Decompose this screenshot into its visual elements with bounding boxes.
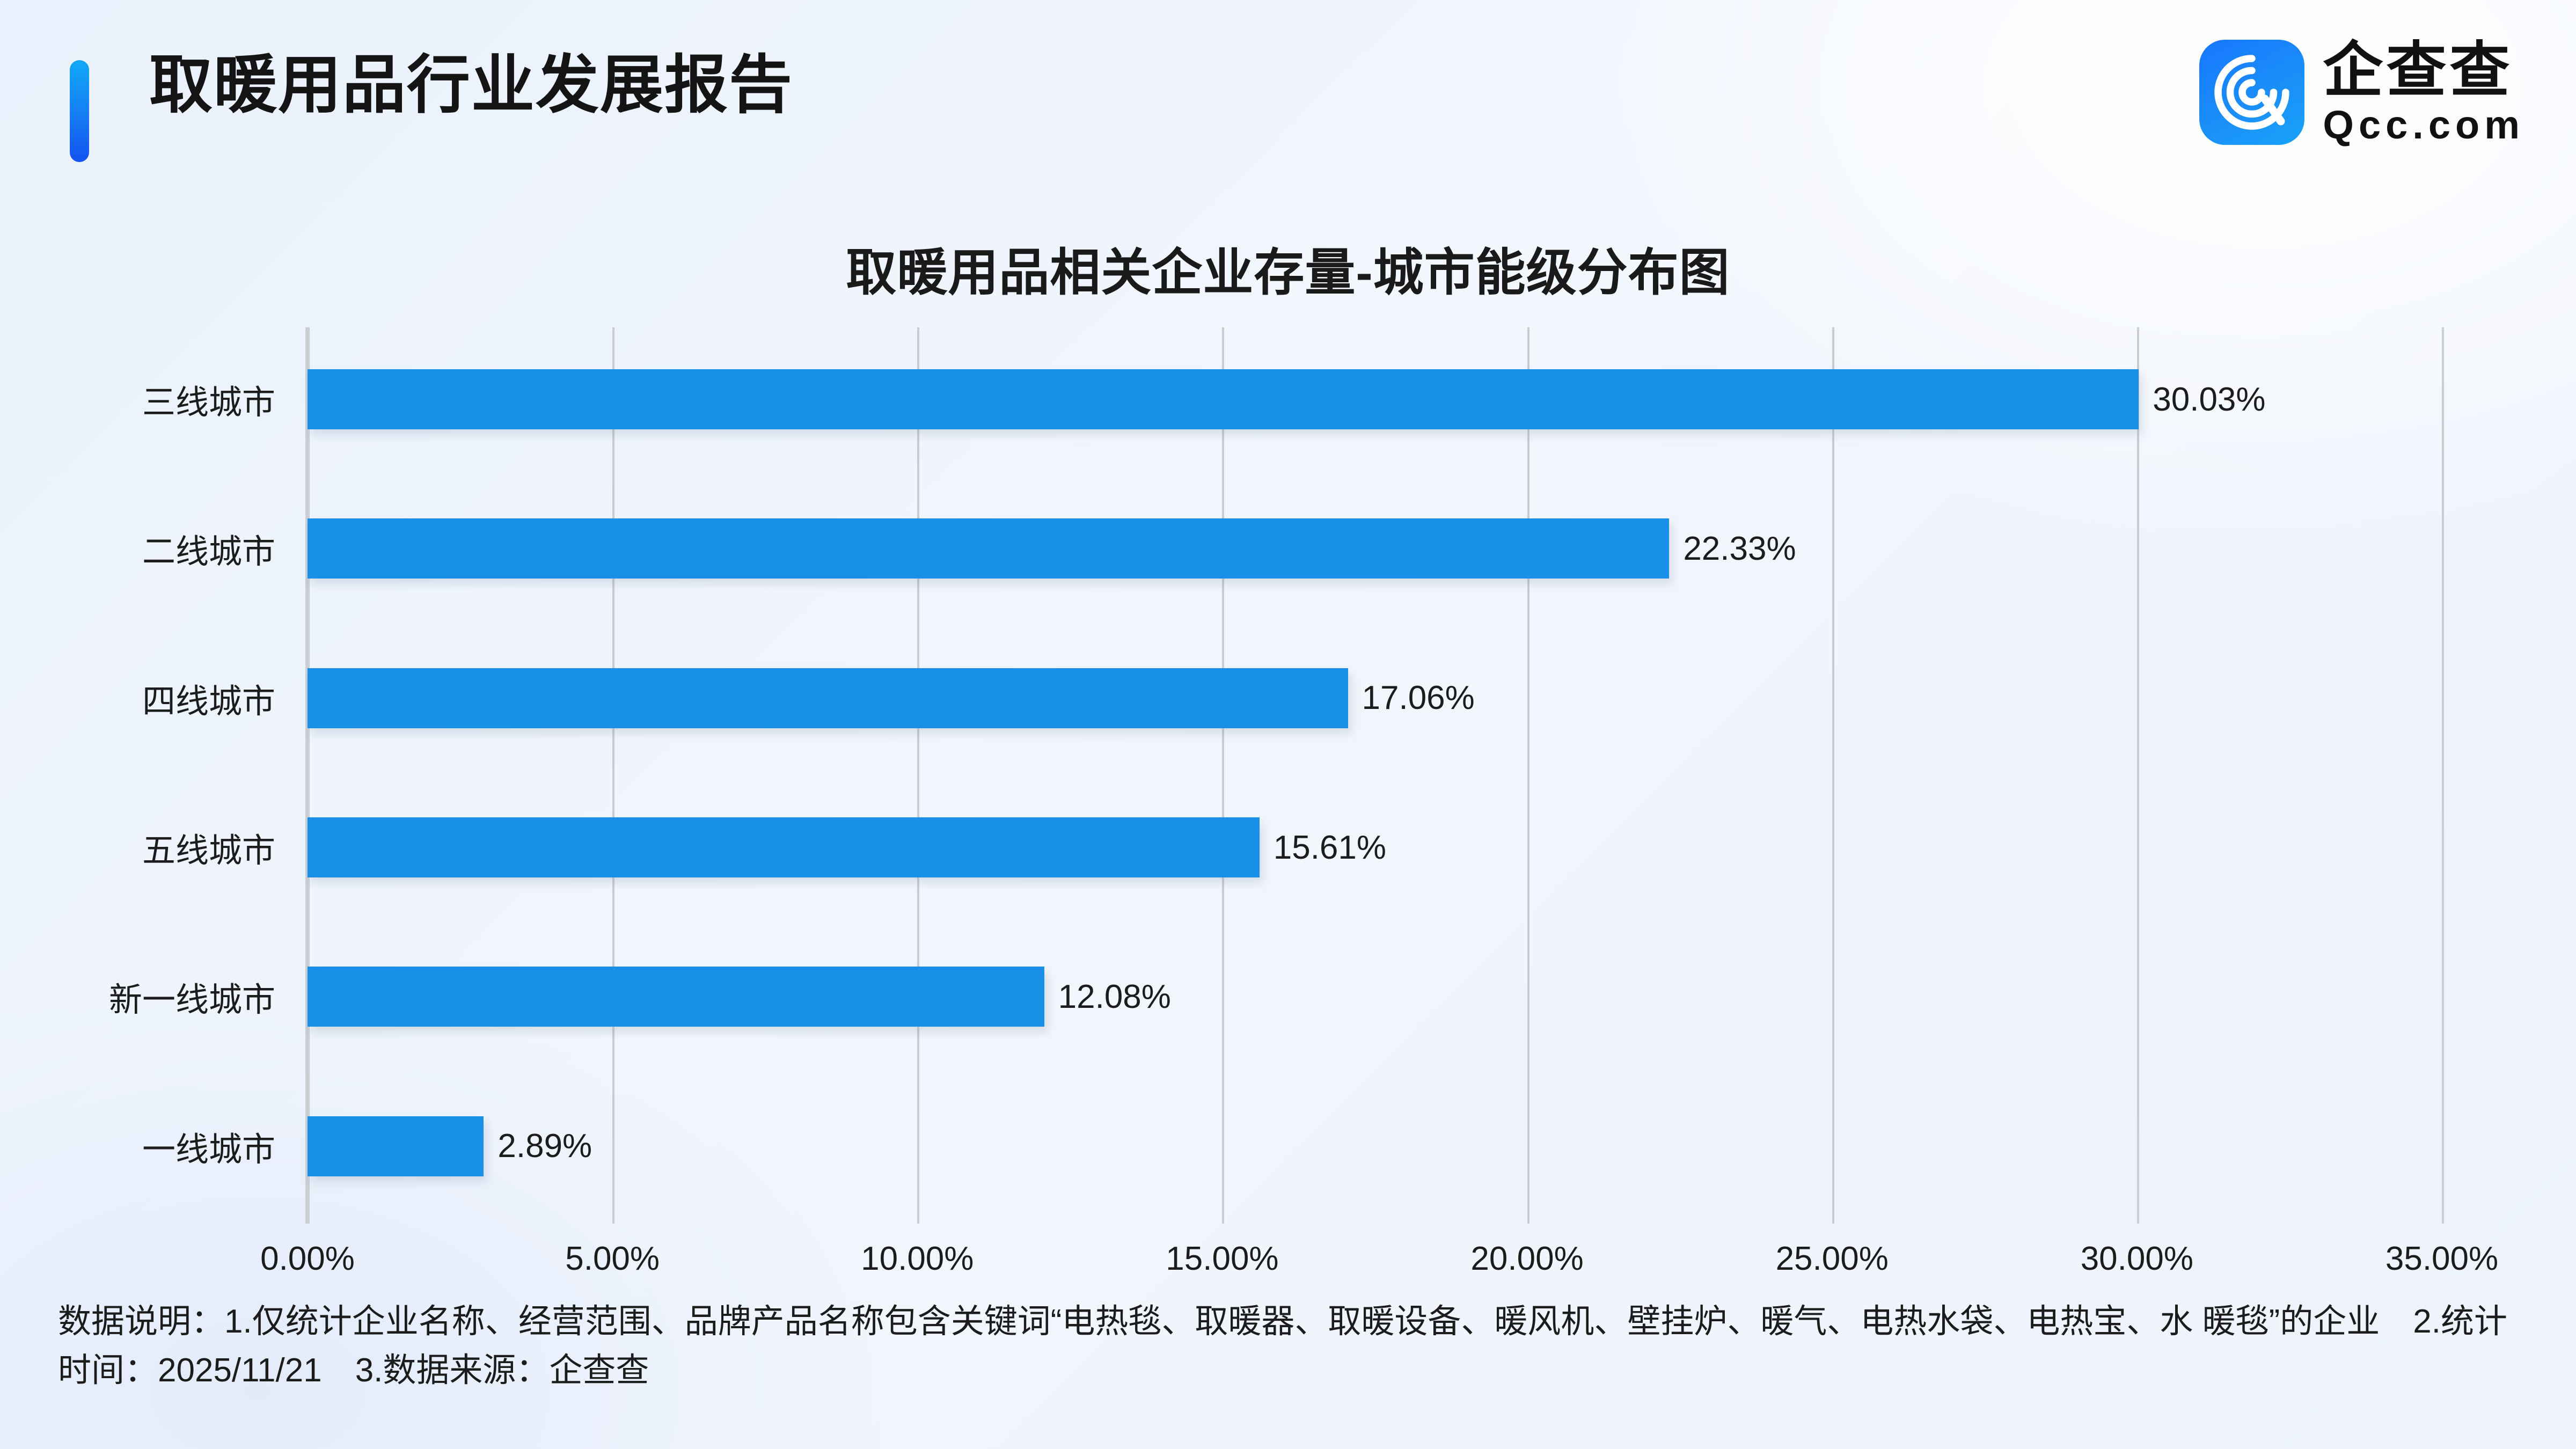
x-axis-tick-label: 0.00%	[260, 1240, 355, 1278]
page-title: 取暖用品行业发展报告	[149, 54, 793, 117]
bar-value-label: 22.33%	[1669, 518, 1796, 579]
qcc-logo: 企查查 Qcc.com	[2199, 39, 2524, 145]
x-axis-tick-label: 30.00%	[2081, 1240, 2193, 1278]
page-header: 取暖用品行业发展报告 企查查 Qcc.com	[0, 0, 2576, 215]
bar-row: 新一线城市12.08%	[308, 925, 2442, 1074]
logo-cn-name: 企查查	[2323, 39, 2524, 102]
bar[interactable]	[308, 369, 2139, 429]
x-axis-tick-label: 35.00%	[2385, 1240, 2498, 1278]
data-note-line-1: 数据说明：1.仅统计企业名称、经营范围、品牌产品名称包含关键词“电热毯、取暖器、…	[58, 1303, 2193, 1340]
bar-value-label: 30.03%	[2139, 369, 2265, 429]
category-label: 二线城市	[0, 518, 275, 579]
logo-domain: Qcc.com	[2323, 104, 2524, 146]
logo-wordmark: 企查查 Qcc.com	[2323, 39, 2524, 145]
x-axis-tick-label: 25.00%	[1776, 1240, 1889, 1278]
bar[interactable]	[308, 518, 1669, 579]
bar-row: 二线城市22.33%	[308, 477, 2442, 626]
gridline	[2442, 327, 2444, 1224]
x-axis-tick-label: 15.00%	[1166, 1240, 1278, 1278]
bar[interactable]	[308, 1116, 484, 1176]
bar-row: 五线城市15.61%	[308, 775, 2442, 925]
bar-value-label: 17.06%	[1348, 668, 1475, 728]
bar[interactable]	[308, 967, 1044, 1027]
x-axis-tick-label: 5.00%	[565, 1240, 660, 1278]
bar-value-label: 2.89%	[484, 1116, 592, 1176]
bar-value-label: 15.61%	[1260, 817, 1386, 877]
bar-row: 三线城市30.03%	[308, 327, 2442, 477]
bar-chart-plot-area: 三线城市30.03%二线城市22.33%四线城市17.06%五线城市15.61%…	[308, 327, 2442, 1224]
bar-row: 四线城市17.06%	[308, 626, 2442, 775]
data-note: 数据说明：1.仅统计企业名称、经营范围、品牌产品名称包含关键词“电热毯、取暖器、…	[58, 1298, 2537, 1395]
bar-value-label: 12.08%	[1044, 967, 1171, 1027]
category-label: 四线城市	[0, 668, 275, 728]
x-axis-tick-label: 10.00%	[861, 1240, 974, 1278]
title-accent-bar	[70, 60, 89, 162]
category-label: 一线城市	[0, 1116, 275, 1176]
qcc-spiral-q-icon	[2199, 40, 2304, 145]
category-label: 五线城市	[0, 817, 275, 877]
chart-title: 取暖用品相关企业存量-城市能级分布图	[0, 232, 2576, 305]
x-axis-tick-label: 20.00%	[1470, 1240, 1583, 1278]
category-label: 三线城市	[0, 369, 275, 429]
category-label: 新一线城市	[0, 967, 275, 1027]
bar[interactable]	[308, 817, 1260, 877]
bar[interactable]	[308, 668, 1348, 728]
bar-row: 一线城市2.89%	[308, 1074, 2442, 1224]
